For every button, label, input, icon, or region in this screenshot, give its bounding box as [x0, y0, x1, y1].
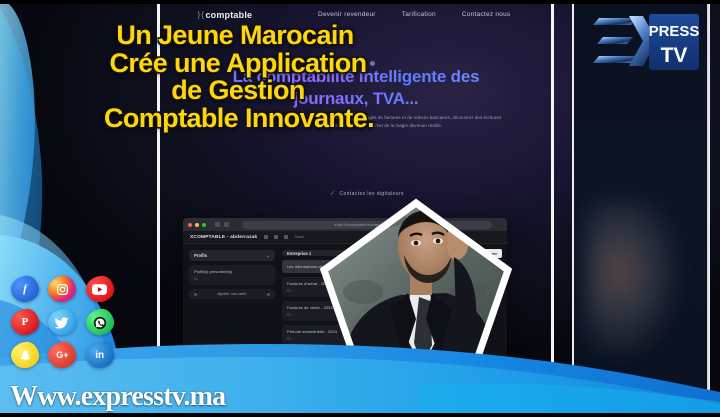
nav-item-tarification[interactable]: Tarification: [402, 11, 436, 18]
nav-item-contactez-nous[interactable]: Contactez nous: [462, 11, 511, 18]
frame-bottom: [0, 413, 720, 417]
headline-line-3: de Gestion: [0, 77, 470, 105]
googleplus-icon: G+: [56, 351, 68, 360]
social-icon-linkedin[interactable]: in: [83, 340, 117, 371]
social-icon-googleplus[interactable]: G+: [45, 340, 79, 371]
site-cta-label: Contactez les digitaleurs: [339, 191, 403, 197]
logo-press-text: PRESS: [649, 23, 700, 40]
social-icon-whatsapp[interactable]: [83, 307, 117, 338]
check-icon: ✓: [330, 190, 335, 197]
youtube-icon: [92, 284, 107, 295]
headline-line-1: Un Jeune Marocain: [0, 22, 470, 50]
pinterest-icon: P: [22, 317, 29, 328]
social-icon-twitter[interactable]: [45, 307, 79, 338]
logo-tv-text: TV: [661, 44, 688, 67]
social-icon-snapchat[interactable]: [8, 340, 42, 371]
social-icon-facebook[interactable]: f: [8, 274, 42, 305]
social-icon-instagram[interactable]: [45, 274, 79, 305]
site-cta-link[interactable]: ✓ Contactez les digitaleurs: [330, 190, 404, 197]
frame-top: [0, 0, 720, 4]
facebook-icon: f: [23, 284, 27, 295]
headline-line-2: Crée une Application: [0, 50, 470, 78]
social-icon-pinterest[interactable]: P: [8, 307, 42, 338]
social-icons-cluster: f P: [8, 274, 118, 371]
whatsapp-icon: [93, 316, 107, 330]
snapchat-icon: [19, 349, 32, 362]
instagram-icon: [56, 283, 69, 296]
twitter-icon: [55, 317, 69, 329]
social-icon-youtube[interactable]: [83, 274, 117, 305]
logo-e-glyph: [593, 18, 637, 63]
nav-item-devenir-revendeur[interactable]: Devenir revendeur: [318, 11, 376, 18]
site-nav-links: Devenir revendeur Tarification Contactez…: [318, 11, 510, 18]
website-url-banner: Www.expresstv.ma: [10, 381, 225, 413]
broadcast-thumbnail: ⟩⟨comptable Devenir revendeur Tarificati…: [0, 0, 720, 417]
headline-overlay: Un Jeune Marocain Crée une Application d…: [0, 22, 470, 132]
headline-line-4: Comptable Innovante.: [0, 105, 470, 133]
expresstv-logo: PRESS TV: [577, 6, 703, 78]
linkedin-icon: in: [95, 351, 104, 361]
